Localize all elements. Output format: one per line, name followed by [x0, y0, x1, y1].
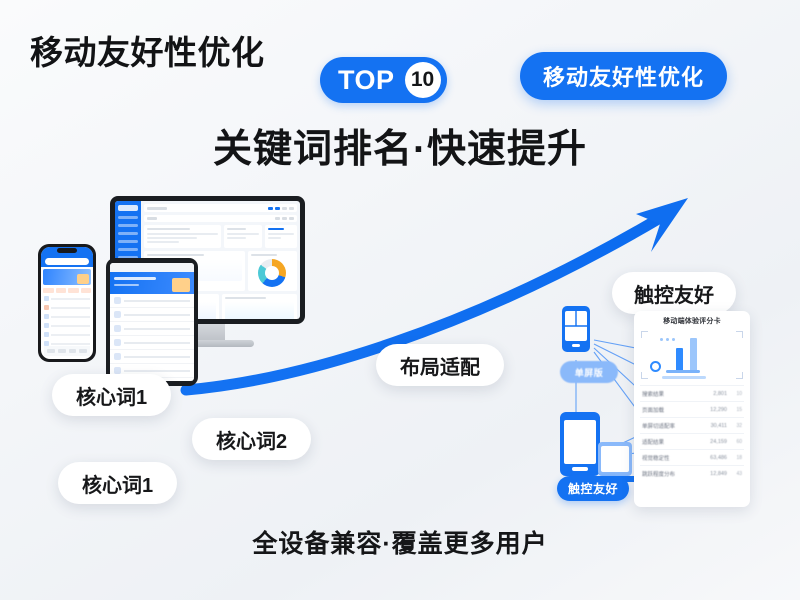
phone-search-bar	[45, 258, 89, 265]
top-badge-label: TOP	[338, 67, 395, 94]
table-row: 搜索结果 2,801 10	[640, 385, 744, 401]
scorecard-title: 移动端体验评分卡	[640, 316, 744, 326]
top-badge-number: 10	[405, 62, 441, 98]
row-name: 页面加载	[642, 406, 706, 414]
row-value: 12,849	[710, 471, 727, 477]
top-ten-badge: TOP 10	[320, 57, 447, 103]
row-delta: 15	[731, 407, 742, 413]
multi-screen-mini-pill: 单屏版	[560, 361, 618, 383]
layout-fit-pill: 布局适配	[376, 344, 504, 386]
row-name: 跳跃程度分布	[642, 470, 706, 478]
device-mockups-group	[28, 196, 328, 386]
page-eyebrow-title: 移动友好性优化	[30, 26, 265, 74]
table-row: 适配结果 24,159 60	[640, 433, 744, 449]
keyword-pill-3: 核心词1	[58, 462, 177, 504]
table-row: 单屏切适配率 30,411 32	[640, 417, 744, 433]
scorecard-chart	[640, 330, 744, 380]
row-name: 单屏切适配率	[642, 422, 707, 430]
scorecard-table: 搜索结果 2,801 10 页面加载 12,290 15 单屏切适配率 30,4…	[640, 385, 744, 481]
row-name: 搜索结果	[642, 390, 709, 398]
donut-chart	[258, 259, 286, 287]
phone-tabbar	[44, 346, 90, 356]
phone-header	[41, 247, 93, 267]
poster-canvas: 移动友好性优化 TOP 10 移动友好性优化 关键词排名·快速提升	[0, 0, 800, 600]
chart-bars	[662, 334, 730, 372]
phone-notch	[57, 248, 77, 253]
page-title: 关键词排名·快速提升	[0, 118, 800, 174]
row-delta: 10	[731, 391, 742, 397]
row-delta: 32	[731, 423, 742, 429]
table-row: 页面加载 12,290 15	[640, 401, 744, 417]
row-value: 30,411	[711, 423, 727, 429]
row-value: 2,801	[713, 391, 727, 397]
keyword-pill-2: 核心词2	[192, 418, 311, 460]
header-blue-pill: 移动友好性优化	[520, 52, 727, 100]
row-delta: 60	[731, 439, 742, 445]
mobile-experience-scorecard: 移动端体验评分卡 搜索结果 2,801 10 页面加载 12,290	[634, 311, 750, 507]
row-name: 适配结果	[642, 438, 706, 446]
chart-bubble-icon	[650, 361, 661, 372]
footer-tagline: 全设备兼容·覆盖更多用户	[0, 524, 800, 560]
row-name: 视觉稳定性	[642, 454, 706, 462]
tablet-banner	[110, 272, 194, 294]
row-value: 12,290	[710, 407, 727, 413]
phone-mockup	[38, 244, 96, 362]
table-row: 视觉稳定性 63,486 18	[640, 449, 744, 465]
tablet-mockup	[106, 258, 198, 386]
row-delta: 43	[731, 471, 742, 477]
touch-friendly-mini-pill: 触控友好	[557, 476, 629, 501]
row-value: 24,159	[710, 439, 727, 445]
phone-banner	[43, 269, 91, 285]
header-blue-pill-label: 移动友好性优化	[543, 60, 704, 92]
row-delta: 18	[731, 455, 742, 461]
keyword-pill-1: 核心词1	[52, 374, 171, 416]
row-value: 63,486	[710, 455, 727, 461]
table-row: 跳跃程度分布 12,849 43	[640, 465, 744, 481]
